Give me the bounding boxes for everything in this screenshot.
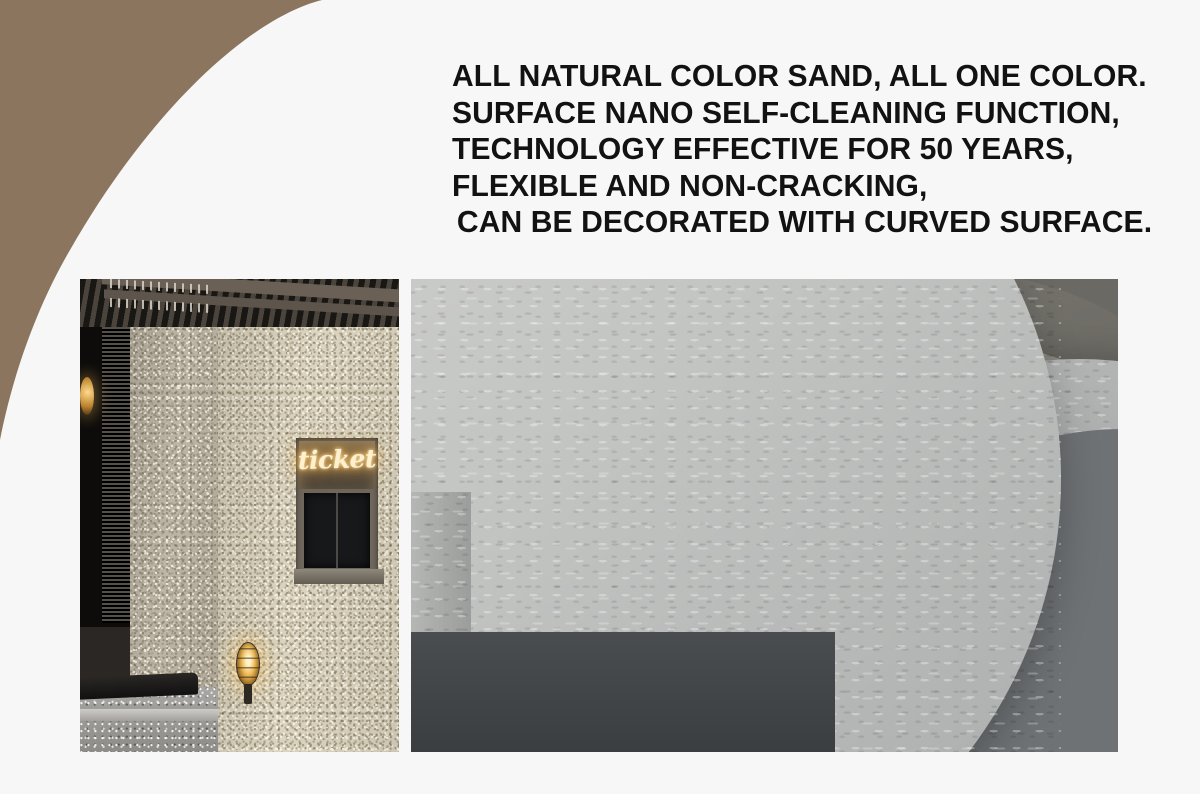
headline-line-1: ALL NATURAL COLOR SAND, ALL ONE COLOR. [452,58,1142,95]
headline-line-4: FLEXIBLE AND NON-CRACKING, [452,168,1142,205]
secondary-lamp-glow-icon [80,377,94,415]
headline-line-5: CAN BE DECORATED WITH CURVED SURFACE. [452,204,1142,241]
ticket-window-opening [304,493,370,568]
interior-curved-lobby-photo [411,279,1118,752]
headline-line-2: SURFACE NANO SELF-CLEANING FUNCTION, [452,95,1142,132]
foreground-dark-base [411,632,835,752]
sconce-cage [236,642,260,686]
headline-line-3: TECHNOLOGY EFFECTIVE FOR 50 YEARS, [452,131,1142,168]
step-riser [80,709,218,721]
wall-sconce-lamp-icon [234,642,262,706]
ticket-window-sill [294,569,384,584]
exterior-facade-photo: ticket [80,279,399,752]
ticket-window-niche: ticket [296,438,378,584]
ticket-neon-sign: ticket [296,443,379,477]
poster-page: ALL NATURAL COLOR SAND, ALL ONE COLOR. S… [0,0,1200,794]
headline-block: ALL NATURAL COLOR SAND, ALL ONE COLOR. S… [452,58,1152,241]
sconce-arm [244,684,252,704]
